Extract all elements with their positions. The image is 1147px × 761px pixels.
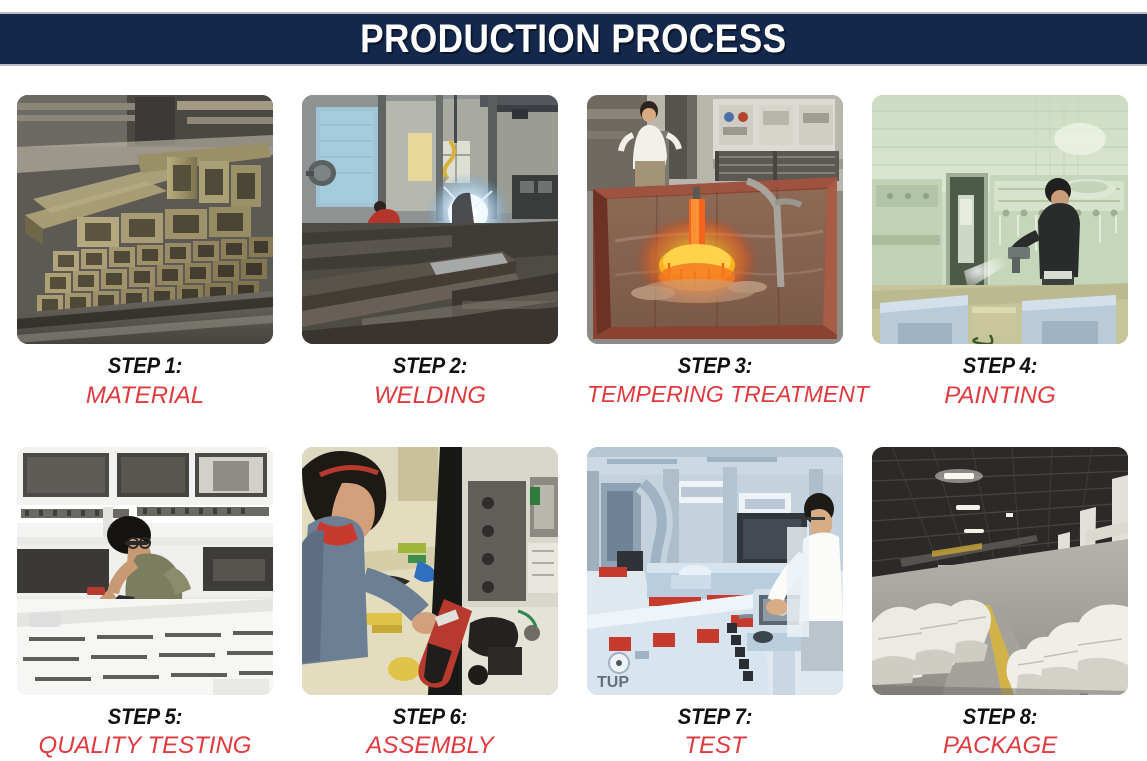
step-8-caption: STEP 8: PACKAGE — [872, 695, 1128, 761]
cnc-test-image: TUP — [587, 447, 843, 695]
step-3-name: TEMPERING TREATMENT — [587, 380, 843, 410]
assembly-image — [302, 447, 558, 695]
step-card-7[interactable]: TUP — [587, 447, 843, 761]
step-5-number: STEP 5: — [27, 703, 263, 731]
step-card-1[interactable]: STEP 1: MATERIAL — [17, 95, 273, 411]
step-6-photo — [302, 447, 558, 695]
step-7-number: STEP 7: — [597, 703, 833, 731]
step-2-caption: STEP 2: WELDING — [302, 344, 558, 411]
step-card-6[interactable]: STEP 6: ASSEMBLY — [302, 447, 558, 761]
step-3-photo — [587, 95, 843, 344]
step-card-3[interactable]: STEP 3: TEMPERING TREATMENT — [587, 95, 843, 411]
step-3-number: STEP 3: — [597, 352, 833, 380]
step-card-5[interactable]: STEP 5: QUALITY TESTING — [17, 447, 273, 761]
step-5-photo — [17, 447, 273, 695]
production-step-grid: STEP 1: MATERIAL — [17, 95, 1130, 761]
painting-booth-image — [872, 95, 1128, 344]
page-header-banner: PRODUCTION PROCESS — [0, 12, 1147, 66]
step-6-caption: STEP 6: ASSEMBLY — [302, 695, 558, 761]
step-card-2[interactable]: STEP 2: WELDING — [302, 95, 558, 411]
quality-testing-image — [17, 447, 273, 695]
step-7-caption: STEP 7: TEST — [587, 695, 843, 761]
step-4-photo — [872, 95, 1128, 344]
step-2-name: WELDING — [302, 380, 558, 411]
step-4-number: STEP 4: — [882, 352, 1118, 380]
step-4-caption: STEP 4: PAINTING — [872, 344, 1128, 411]
step-6-number: STEP 6: — [312, 703, 548, 731]
step-5-caption: STEP 5: QUALITY TESTING — [17, 695, 273, 761]
page-title: PRODUCTION PROCESS — [360, 19, 786, 59]
step-8-number: STEP 8: — [882, 703, 1118, 731]
step-card-4[interactable]: STEP 4: PAINTING — [872, 95, 1128, 411]
step-2-number: STEP 2: — [312, 352, 548, 380]
step-7-photo: TUP — [587, 447, 843, 695]
welding-workshop-image — [302, 95, 558, 344]
svg-text:TUP: TUP — [597, 674, 629, 691]
step-1-photo — [17, 95, 273, 344]
step-2-photo — [302, 95, 558, 344]
step-1-caption: STEP 1: MATERIAL — [17, 344, 273, 411]
step-4-name: PAINTING — [872, 380, 1128, 411]
step-card-8[interactable]: STEP 8: PACKAGE — [872, 447, 1128, 761]
warehouse-package-image — [872, 447, 1128, 695]
step-1-number: STEP 1: — [27, 352, 263, 380]
step-3-caption: STEP 3: TEMPERING TREATMENT — [587, 344, 843, 409]
tempering-tank-image — [587, 95, 843, 344]
step-8-photo — [872, 447, 1128, 695]
step-1-name: MATERIAL — [17, 380, 273, 411]
steel-tubing-image — [17, 95, 273, 344]
